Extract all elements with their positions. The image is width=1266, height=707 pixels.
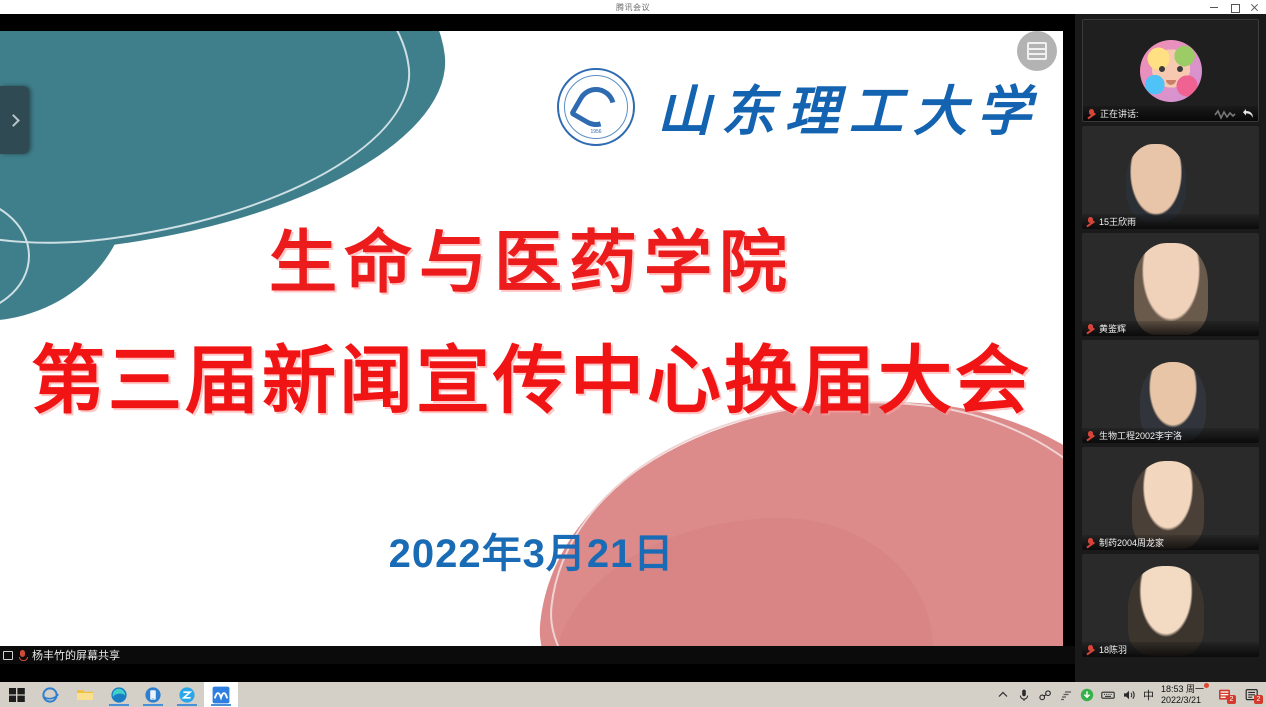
slide-title-line-1: 生命与医药学院 (0, 207, 1063, 306)
microphone-muted-icon (1086, 538, 1095, 548)
participant-tile-footer: 正在讲话: (1083, 106, 1258, 121)
slide-title-line-2: 第三届新闻宣传中心换届大会 (0, 321, 1063, 428)
clock-time: 18:53 周一 (1161, 684, 1204, 695)
update-download-icon[interactable] (1080, 688, 1094, 702)
minimize-button[interactable] (1210, 3, 1219, 12)
layout-grid-icon (1027, 42, 1047, 60)
tray-badge-count: 2 (1227, 695, 1236, 704)
presentation-slide: 1956 山东理工大学 生命与医药学院 第三届新闻宣传中心换届大会 2022年3… (0, 31, 1063, 648)
participant-name: 黄鉴辉 (1099, 322, 1126, 335)
participant-tile[interactable]: 18陈羽 (1082, 554, 1259, 657)
phone-link-icon (144, 686, 162, 704)
participant-tile-footer: 黄鉴辉 (1082, 321, 1259, 336)
microphone-muted-icon (1087, 109, 1096, 119)
signal-bars-icon[interactable] (1059, 688, 1073, 702)
meeting-window: 1956 山东理工大学 生命与医药学院 第三届新闻宣传中心换届大会 2022年3… (0, 14, 1266, 682)
chevron-right-icon (7, 114, 20, 127)
taskbar-item-microsoft-edge[interactable] (102, 682, 136, 707)
participant-tile-footer: 15王欣雨 (1082, 214, 1259, 229)
participant-tile-footer: 制药2004周龙家 (1082, 535, 1259, 550)
participant-tile-actions[interactable] (1214, 108, 1255, 120)
taskbar-items (0, 682, 238, 707)
university-seal-icon: 1956 (557, 68, 635, 146)
file-explorer-icon (76, 686, 94, 704)
tray-action-center[interactable]: 2 (1242, 686, 1262, 704)
windows-start-icon (8, 686, 26, 704)
taskbar-item-file-explorer[interactable] (68, 682, 102, 707)
ime-indicator[interactable]: 中 (1143, 687, 1154, 703)
participant-name: 制药2004周龙家 (1099, 536, 1164, 549)
maximize-button[interactable] (1230, 3, 1239, 12)
volume-icon[interactable] (1122, 688, 1136, 702)
close-button[interactable] (1250, 3, 1259, 12)
tray-overflow-chevron-icon[interactable] (996, 688, 1010, 702)
taskbar-item-phone-link[interactable] (136, 682, 170, 707)
window-controls (1210, 0, 1264, 14)
university-logo-row: 1956 山东理工大学 (557, 67, 1041, 146)
microphone-muted-icon (18, 650, 27, 660)
participant-tile[interactable]: 黄鉴辉 (1082, 233, 1259, 336)
slide-date: 2022年3月21日 (0, 521, 1063, 579)
microphone-icon[interactable] (1017, 688, 1031, 702)
start-button[interactable] (0, 682, 34, 707)
expand-panel-handle[interactable] (0, 86, 29, 154)
participant-tile[interactable]: 正在讲话: (1082, 19, 1259, 122)
participant-tile[interactable]: 生物工程2002李宇洛 (1082, 340, 1259, 443)
taskbar-item-browser[interactable] (170, 682, 204, 707)
tray-badge-count: 2 (1254, 695, 1263, 704)
tray-notification-app[interactable]: 2 (1215, 686, 1235, 704)
view-layout-button[interactable] (1017, 31, 1057, 71)
participant-tile-footer: 18陈羽 (1082, 642, 1259, 657)
taskbar-item-internet-explorer[interactable] (34, 682, 68, 707)
university-name: 山东理工大学 (657, 67, 1041, 146)
participant-name: 正在讲话: (1100, 107, 1139, 120)
clock-notification-dot (1204, 683, 1209, 688)
taskbar-item-tencent-meeting[interactable] (204, 682, 238, 707)
microphone-muted-icon (1086, 431, 1095, 441)
participant-tile[interactable]: 15王欣雨 (1082, 126, 1259, 229)
seal-emblem-icon (569, 79, 624, 134)
participant-name: 15王欣雨 (1099, 215, 1136, 228)
microphone-muted-icon (1086, 324, 1095, 334)
clock-date: 2022/3/21 (1161, 695, 1201, 706)
windows-taskbar: 中 18:53 周一 2022/3/21 2 2 (0, 682, 1266, 707)
avatar (1140, 40, 1202, 102)
screen-share-icon (3, 651, 13, 660)
network-icon[interactable] (1038, 688, 1052, 702)
window-title: 腾讯会议 (616, 2, 650, 13)
reply-icon[interactable] (1242, 108, 1255, 120)
participant-name: 18陈羽 (1099, 643, 1127, 656)
microsoft-edge-icon (110, 686, 128, 704)
participant-name: 生物工程2002李宇洛 (1099, 429, 1182, 442)
browser-2345-icon (178, 686, 196, 704)
participant-tile-footer: 生物工程2002李宇洛 (1082, 428, 1259, 443)
internet-explorer-icon (42, 686, 60, 704)
share-status-text: 杨丰竹的屏幕共享 (32, 647, 120, 663)
participant-tile[interactable]: 制药2004周龙家 (1082, 447, 1259, 550)
waveform-icon (1214, 109, 1236, 120)
microphone-muted-icon (1086, 645, 1095, 655)
share-status-bar: 杨丰竹的屏幕共享 (0, 646, 1075, 664)
keyboard-icon[interactable] (1101, 688, 1115, 702)
seal-year: 1956 (559, 129, 633, 135)
window-title-bar: 腾讯会议 (0, 0, 1266, 14)
screen-share-area: 1956 山东理工大学 生命与医药学院 第三届新闻宣传中心换届大会 2022年3… (0, 14, 1075, 664)
tencent-meeting-icon (212, 686, 230, 704)
microphone-muted-icon (1086, 217, 1095, 227)
system-tray: 中 18:53 周一 2022/3/21 2 2 (996, 682, 1266, 707)
participant-video-list[interactable]: 正在讲话: 15王欣雨 (1075, 14, 1266, 682)
clock[interactable]: 18:53 周一 2022/3/21 (1161, 684, 1208, 706)
